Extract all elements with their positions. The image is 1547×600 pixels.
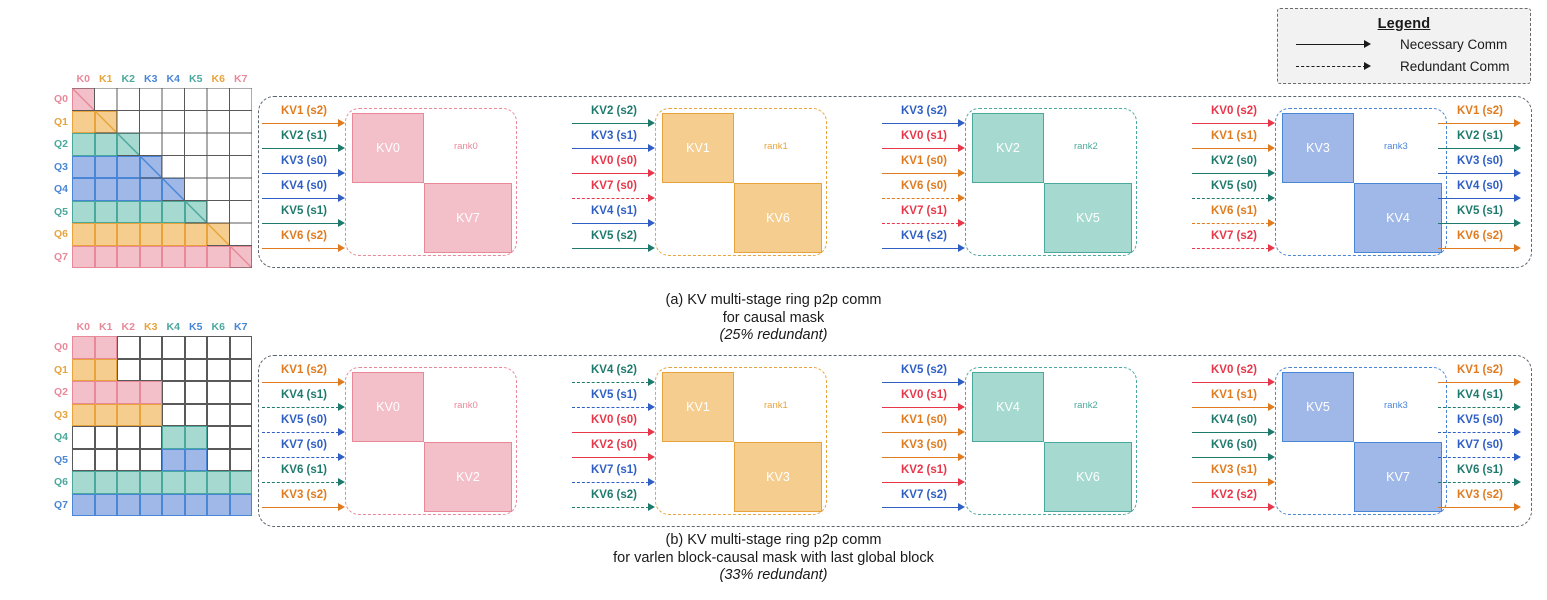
- comm-arrow-label: KV6 (s1): [281, 464, 327, 476]
- comm-arrow-head: [648, 144, 655, 152]
- rank-box-rank0-b: KV0KV2rank0: [345, 367, 517, 515]
- comm-arrow-line: [262, 407, 339, 408]
- comm-arrow-line: [882, 148, 959, 149]
- comm-arrow: KV4 (s1): [1438, 390, 1522, 415]
- comm-arrow: KV6 (s0): [882, 181, 966, 206]
- comm-arrow-head: [648, 478, 655, 486]
- matrix-cell: [140, 88, 163, 111]
- comm-arrow-head: [338, 428, 345, 436]
- comm-arrow-line: [1192, 173, 1269, 174]
- comm-arrow-head: [648, 453, 655, 461]
- row-header-q7-a: Q7: [46, 246, 68, 269]
- attention-mask-matrix-b: [72, 336, 252, 516]
- arrow-column-5-a: KV1 (s2)KV2 (s1)KV3 (s0)KV4 (s0)KV5 (s1)…: [1438, 106, 1522, 256]
- matrix-cell: [207, 246, 230, 269]
- comm-arrow-head: [1514, 194, 1521, 202]
- comm-arrow: KV0 (s1): [882, 390, 966, 415]
- comm-arrow: KV2 (s0): [572, 440, 656, 465]
- comm-arrow-line: [572, 123, 649, 124]
- comm-arrow-label: KV0 (s0): [591, 155, 637, 167]
- matrix-cell: [117, 426, 140, 449]
- comm-arrow-label: KV5 (s1): [591, 389, 637, 401]
- column-header-k4-a: K4: [162, 73, 185, 85]
- matrix-cell: [162, 201, 185, 224]
- comm-arrow-label: KV4 (s1): [1457, 389, 1503, 401]
- matrix-cell: [117, 201, 140, 224]
- comm-arrow: KV7 (s2): [1192, 231, 1276, 256]
- comm-arrow-label: KV2 (s1): [1457, 130, 1503, 142]
- comm-arrow-head: [1514, 378, 1521, 386]
- comm-arrow-label: KV7 (s2): [901, 489, 947, 501]
- comm-arrow: KV0 (s0): [572, 156, 656, 181]
- comm-arrow-label: KV7 (s1): [901, 205, 947, 217]
- rank-label-rank0-a: rank0: [454, 141, 478, 152]
- comm-arrow-line: [572, 173, 649, 174]
- comm-arrow-line: [1438, 457, 1515, 458]
- comm-arrow-head: [1268, 378, 1275, 386]
- comm-arrow-head: [1268, 169, 1275, 177]
- comm-arrow-head: [338, 403, 345, 411]
- matrix-cell: [117, 246, 140, 269]
- column-header-k3-b: K3: [140, 321, 163, 333]
- comm-arrow-label: KV4 (s0): [281, 180, 327, 192]
- arrow-column-4-b: KV0 (s2)KV1 (s1)KV4 (s0)KV6 (s0)KV3 (s1)…: [1192, 365, 1276, 515]
- comm-arrow-line: [572, 223, 649, 224]
- comm-arrow-label: KV3 (s0): [901, 439, 947, 451]
- kv-block-kv7-rank0: KV7: [424, 183, 512, 253]
- rank-label-rank1-b: rank1: [764, 400, 788, 411]
- comm-arrow-label: KV5 (s2): [901, 364, 947, 376]
- comm-arrow-line: [262, 173, 339, 174]
- matrix-cell: [185, 381, 208, 404]
- matrix-cell: [140, 494, 163, 517]
- comm-arrow-label: KV1 (s0): [901, 155, 947, 167]
- matrix-cell: [162, 156, 185, 179]
- comm-arrow-label: KV4 (s1): [281, 389, 327, 401]
- comm-arrow: KV7 (s0): [262, 440, 346, 465]
- kv-block-kv3-rank1: KV3: [734, 442, 822, 512]
- comm-arrow: KV1 (s2): [1438, 365, 1522, 390]
- matrix-cell: [117, 359, 140, 382]
- matrix-cell: [207, 449, 230, 472]
- rank-box-rank3-b: KV5KV7rank3: [1275, 367, 1447, 515]
- matrix-cell: [185, 449, 208, 472]
- comm-arrow-head: [648, 244, 655, 252]
- kv-block-kv1-rank1: KV1: [662, 113, 734, 183]
- comm-arrow-line: [262, 223, 339, 224]
- comm-arrow: KV5 (s1): [1438, 206, 1522, 231]
- comm-arrow-head: [648, 219, 655, 227]
- comm-arrow-label: KV4 (s2): [901, 230, 947, 242]
- comm-arrow-label: KV3 (s1): [591, 130, 637, 142]
- comm-arrow-label: KV1 (s0): [901, 414, 947, 426]
- comm-arrow-line: [572, 148, 649, 149]
- matrix-cell: [207, 336, 230, 359]
- comm-arrow: KV1 (s2): [1438, 106, 1522, 131]
- comm-arrow-head: [1268, 144, 1275, 152]
- matrix-cell: [117, 111, 140, 134]
- comm-arrow-label: KV2 (s1): [281, 130, 327, 142]
- comm-arrow-label: KV1 (s1): [1211, 130, 1257, 142]
- comm-arrow: KV2 (s2): [572, 106, 656, 131]
- comm-arrow-label: KV6 (s2): [591, 489, 637, 501]
- kv-block-kv6-rank1: KV6: [734, 183, 822, 253]
- matrix-cell: [185, 133, 208, 156]
- comm-arrow-line: [572, 482, 649, 483]
- comm-arrow-head: [958, 144, 965, 152]
- comm-arrow-line: [882, 123, 959, 124]
- matrix-cell: [207, 381, 230, 404]
- comm-arrow-label: KV0 (s2): [1211, 364, 1257, 376]
- matrix-row-headers-b: Q0Q1Q2Q3Q4Q5Q6Q7: [46, 336, 68, 516]
- matrix-cell: [95, 201, 118, 224]
- matrix-cell: [207, 201, 230, 224]
- comm-arrow-line: [262, 382, 339, 383]
- comm-arrow: KV6 (s2): [572, 490, 656, 515]
- row-header-q7-b: Q7: [46, 494, 68, 517]
- comm-arrow-label: KV0 (s0): [591, 414, 637, 426]
- matrix-cell: [162, 246, 185, 269]
- kv-block-kv0-rank0: KV0: [352, 372, 424, 442]
- comm-arrow: KV3 (s1): [1192, 465, 1276, 490]
- comm-arrow-label: KV1 (s2): [1457, 364, 1503, 376]
- matrix-cell: [162, 359, 185, 382]
- comm-arrow-line: [882, 198, 959, 199]
- matrix-cell: [207, 471, 230, 494]
- comm-arrow: KV1 (s1): [1192, 390, 1276, 415]
- kv-block-kv1-rank1: KV1: [662, 372, 734, 442]
- comm-arrow-line: [1438, 198, 1515, 199]
- comm-arrow-head: [338, 503, 345, 511]
- comm-arrow-label: KV4 (s0): [1211, 414, 1257, 426]
- row-header-q0-a: Q0: [46, 88, 68, 111]
- comm-arrow-line: [1438, 507, 1515, 508]
- kv-block-kv6-rank2: KV6: [1044, 442, 1132, 512]
- column-header-k0-b: K0: [72, 321, 95, 333]
- comm-arrow: KV6 (s1): [262, 465, 346, 490]
- row-header-q1-b: Q1: [46, 359, 68, 382]
- rank-label-rank1-a: rank1: [764, 141, 788, 152]
- rank-label-rank0-b: rank0: [454, 400, 478, 411]
- comm-arrow-head: [648, 428, 655, 436]
- comm-arrow: KV1 (s2): [262, 106, 346, 131]
- comm-arrow-label: KV3 (s2): [1457, 489, 1503, 501]
- matrix-cell: [72, 359, 95, 382]
- matrix-cell: [95, 404, 118, 427]
- comm-arrow: KV4 (s0): [1192, 415, 1276, 440]
- rank-box-rank2-b: KV4KV6rank2: [965, 367, 1137, 515]
- matrix-cell: [95, 88, 118, 111]
- comm-arrow-label: KV7 (s0): [591, 180, 637, 192]
- arrow-column-2-b: KV4 (s2)KV5 (s1)KV0 (s0)KV2 (s0)KV7 (s1)…: [572, 365, 656, 515]
- comm-arrow: KV4 (s0): [1438, 181, 1522, 206]
- necessary-arrow-icon: [1296, 39, 1388, 51]
- comm-arrow-label: KV4 (s0): [1457, 180, 1503, 192]
- comm-arrow-head: [1514, 169, 1521, 177]
- row-header-q6-b: Q6: [46, 471, 68, 494]
- matrix-cell: [162, 381, 185, 404]
- comm-arrow-head: [958, 403, 965, 411]
- kv-block-kv4-rank2: KV4: [972, 372, 1044, 442]
- comm-arrow-head: [648, 378, 655, 386]
- arrow-column-3-b: KV5 (s2)KV0 (s1)KV1 (s0)KV3 (s0)KV2 (s1)…: [882, 365, 966, 515]
- comm-arrow: KV3 (s2): [262, 490, 346, 515]
- comm-arrow-label: KV1 (s2): [281, 364, 327, 376]
- row-header-q3-a: Q3: [46, 156, 68, 179]
- matrix-cell: [117, 178, 140, 201]
- comm-arrow-head: [648, 403, 655, 411]
- rank-label-rank2-a: rank2: [1074, 141, 1098, 152]
- comm-arrow-head: [338, 144, 345, 152]
- comm-arrow: KV3 (s0): [1438, 156, 1522, 181]
- arrow-column-3-a: KV3 (s2)KV0 (s1)KV1 (s0)KV6 (s0)KV7 (s1)…: [882, 106, 966, 256]
- comm-arrow: KV0 (s2): [1192, 365, 1276, 390]
- comm-arrow: KV2 (s1): [1438, 131, 1522, 156]
- comm-arrow-label: KV3 (s0): [281, 155, 327, 167]
- comm-arrow: KV6 (s1): [1438, 465, 1522, 490]
- matrix-cell: [162, 494, 185, 517]
- comm-arrow-label: KV3 (s2): [901, 105, 947, 117]
- legend-title: Legend: [1278, 16, 1530, 32]
- comm-arrow-label: KV0 (s1): [901, 130, 947, 142]
- comm-arrow-label: KV6 (s2): [281, 230, 327, 242]
- matrix-cell: [185, 471, 208, 494]
- comm-arrow-label: KV4 (s2): [591, 364, 637, 376]
- comm-arrow-label: KV2 (s2): [1211, 489, 1257, 501]
- matrix-row-headers-a: Q0Q1Q2Q3Q4Q5Q6Q7: [46, 88, 68, 268]
- matrix-cell: [185, 201, 208, 224]
- comm-arrow-line: [262, 432, 339, 433]
- comm-arrow-line: [1438, 248, 1515, 249]
- comm-arrow: KV5 (s0): [1192, 181, 1276, 206]
- comm-arrow-head: [338, 453, 345, 461]
- kv-block-kv5-rank2: KV5: [1044, 183, 1132, 253]
- comm-arrow-label: KV5 (s0): [1211, 180, 1257, 192]
- matrix-cell: [140, 133, 163, 156]
- matrix-column-headers-b: K0K1K2K3K4K5K6K7: [72, 321, 252, 333]
- comm-arrow: KV6 (s2): [262, 231, 346, 256]
- matrix-cell: [230, 336, 253, 359]
- column-header-k6-b: K6: [207, 321, 230, 333]
- comm-arrow-line: [1192, 407, 1269, 408]
- comm-arrow-label: KV3 (s0): [1457, 155, 1503, 167]
- comm-arrow-head: [1268, 244, 1275, 252]
- comm-arrow: KV2 (s1): [262, 131, 346, 156]
- comm-arrow: KV4 (s1): [572, 206, 656, 231]
- comm-arrow-label: KV2 (s0): [1211, 155, 1257, 167]
- matrix-cell: [230, 223, 253, 246]
- row-header-q0-b: Q0: [46, 336, 68, 359]
- comm-arrow-label: KV2 (s1): [901, 464, 947, 476]
- matrix-cell: [207, 178, 230, 201]
- comm-arrow-line: [1192, 457, 1269, 458]
- matrix-cell: [95, 449, 118, 472]
- comm-arrow-head: [958, 453, 965, 461]
- matrix-cell: [162, 404, 185, 427]
- matrix-cell: [162, 336, 185, 359]
- arrow-column-1-a: KV1 (s2)KV2 (s1)KV3 (s0)KV4 (s0)KV5 (s1)…: [262, 106, 346, 256]
- comm-arrow-line: [1438, 432, 1515, 433]
- matrix-cell: [95, 494, 118, 517]
- matrix-cell: [140, 359, 163, 382]
- row-header-q6-a: Q6: [46, 223, 68, 246]
- comm-arrow: KV7 (s1): [882, 206, 966, 231]
- comm-arrow: KV4 (s2): [572, 365, 656, 390]
- matrix-cell: [140, 381, 163, 404]
- comm-arrow-head: [958, 219, 965, 227]
- comm-arrow-head: [338, 219, 345, 227]
- matrix-cell: [185, 404, 208, 427]
- rank-box-rank3-a: KV3KV4rank3: [1275, 108, 1447, 256]
- caption-redundancy: (33% redundant): [0, 567, 1547, 585]
- rank-label-rank2-b: rank2: [1074, 400, 1098, 411]
- comm-arrow-head: [958, 478, 965, 486]
- comm-arrow-head: [1268, 194, 1275, 202]
- caption-line-2: for varlen block-causal mask with last g…: [0, 550, 1547, 568]
- matrix-cell: [117, 133, 140, 156]
- comm-arrow-head: [1514, 403, 1521, 411]
- matrix-cell: [162, 223, 185, 246]
- matrix-cell: [72, 381, 95, 404]
- comm-arrow: KV5 (s1): [262, 206, 346, 231]
- comm-arrow-label: KV6 (s0): [901, 180, 947, 192]
- arrow-column-1-b: KV1 (s2)KV4 (s1)KV5 (s0)KV7 (s0)KV6 (s1)…: [262, 365, 346, 515]
- matrix-cell: [207, 88, 230, 111]
- column-header-k7-a: K7: [230, 73, 253, 85]
- comm-arrow-head: [338, 378, 345, 386]
- comm-arrow-line: [1192, 198, 1269, 199]
- matrix-cell: [207, 426, 230, 449]
- comm-arrow-head: [958, 428, 965, 436]
- matrix-cell: [230, 246, 253, 269]
- comm-arrow-label: KV7 (s1): [591, 464, 637, 476]
- row-header-q5-a: Q5: [46, 201, 68, 224]
- comm-arrow-label: KV2 (s0): [591, 439, 637, 451]
- comm-arrow: KV3 (s2): [882, 106, 966, 131]
- comm-arrow-line: [262, 148, 339, 149]
- matrix-cell: [72, 156, 95, 179]
- comm-arrow: KV4 (s2): [882, 231, 966, 256]
- comm-arrow-head: [1514, 219, 1521, 227]
- comm-arrow: KV1 (s1): [1192, 131, 1276, 156]
- comm-arrow-line: [882, 457, 959, 458]
- matrix-cell: [185, 246, 208, 269]
- matrix-cell: [140, 223, 163, 246]
- column-header-k0-a: K0: [72, 73, 95, 85]
- matrix-cell: [230, 404, 253, 427]
- matrix-cell: [140, 111, 163, 134]
- comm-arrow: KV5 (s2): [572, 231, 656, 256]
- attention-mask-matrix-a: [72, 88, 252, 268]
- matrix-cell: [117, 494, 140, 517]
- matrix-cell: [162, 178, 185, 201]
- matrix-cell: [95, 178, 118, 201]
- matrix-cell: [72, 426, 95, 449]
- comm-arrow-line: [882, 173, 959, 174]
- matrix-cell: [72, 246, 95, 269]
- matrix-cell: [95, 111, 118, 134]
- row-header-q5-b: Q5: [46, 449, 68, 472]
- comm-arrow-head: [648, 503, 655, 511]
- matrix-cell: [230, 426, 253, 449]
- column-header-k1-b: K1: [95, 321, 118, 333]
- matrix-cell: [140, 336, 163, 359]
- comm-arrow: KV7 (s0): [1438, 440, 1522, 465]
- comm-arrow-line: [572, 432, 649, 433]
- kv-block-kv2-rank0: KV2: [424, 442, 512, 512]
- matrix-cell: [207, 133, 230, 156]
- matrix-cell: [117, 88, 140, 111]
- comm-arrow-label: KV2 (s2): [591, 105, 637, 117]
- matrix-cell: [72, 404, 95, 427]
- comm-arrow: KV0 (s2): [1192, 106, 1276, 131]
- comm-arrow: KV1 (s2): [262, 365, 346, 390]
- matrix-cell: [140, 449, 163, 472]
- comm-arrow: KV1 (s0): [882, 415, 966, 440]
- comm-arrow-head: [1268, 119, 1275, 127]
- column-header-k2-b: K2: [117, 321, 140, 333]
- comm-arrow-line: [1438, 173, 1515, 174]
- matrix-cell: [72, 471, 95, 494]
- redundant-arrow-icon: [1296, 61, 1388, 73]
- matrix-cell: [117, 471, 140, 494]
- matrix-cell: [230, 156, 253, 179]
- row-header-q4-b: Q4: [46, 426, 68, 449]
- matrix-cell: [72, 494, 95, 517]
- matrix-cell: [185, 426, 208, 449]
- comm-arrow: KV6 (s0): [1192, 440, 1276, 465]
- comm-arrow-head: [1514, 244, 1521, 252]
- comm-arrow-line: [1192, 123, 1269, 124]
- comm-arrow-label: KV6 (s1): [1457, 464, 1503, 476]
- comm-arrow-head: [958, 244, 965, 252]
- caption-line-1: (b) KV multi-stage ring p2p comm: [0, 532, 1547, 550]
- comm-arrow-label: KV1 (s2): [281, 105, 327, 117]
- comm-arrow-line: [1438, 223, 1515, 224]
- matrix-cell: [230, 201, 253, 224]
- rank-label-rank3-b: rank3: [1384, 400, 1408, 411]
- comm-arrow: KV7 (s0): [572, 181, 656, 206]
- matrix-cell: [140, 178, 163, 201]
- matrix-cell: [230, 88, 253, 111]
- comm-arrow: KV3 (s1): [572, 131, 656, 156]
- kv-block-kv0-rank0: KV0: [352, 113, 424, 183]
- comm-arrow: KV5 (s0): [1438, 415, 1522, 440]
- column-header-k3-a: K3: [140, 73, 163, 85]
- comm-arrow-line: [1438, 123, 1515, 124]
- matrix-cell: [95, 246, 118, 269]
- matrix-cell: [207, 404, 230, 427]
- legend-label-necessary: Necessary Comm: [1400, 37, 1507, 52]
- matrix-column-headers-a: K0K1K2K3K4K5K6K7: [72, 73, 252, 85]
- comm-arrow-head: [1514, 503, 1521, 511]
- section-caption-b: (b) KV multi-stage ring p2p commfor varl…: [0, 532, 1547, 585]
- comm-arrow-head: [338, 169, 345, 177]
- comm-arrow-line: [1438, 482, 1515, 483]
- arrow-column-2-a: KV2 (s2)KV3 (s1)KV0 (s0)KV7 (s0)KV4 (s1)…: [572, 106, 656, 256]
- comm-arrow-head: [958, 378, 965, 386]
- comm-arrow-label: KV7 (s0): [1457, 439, 1503, 451]
- comm-arrow: KV0 (s1): [882, 131, 966, 156]
- comm-arrow-head: [1514, 119, 1521, 127]
- comm-arrow-line: [1438, 148, 1515, 149]
- comm-arrow: KV3 (s0): [882, 440, 966, 465]
- comm-arrow-line: [882, 482, 959, 483]
- comm-arrow-label: KV7 (s2): [1211, 230, 1257, 242]
- kv-block-kv7-rank3: KV7: [1354, 442, 1442, 512]
- comm-arrow-label: KV4 (s1): [591, 205, 637, 217]
- comm-arrow-label: KV7 (s0): [281, 439, 327, 451]
